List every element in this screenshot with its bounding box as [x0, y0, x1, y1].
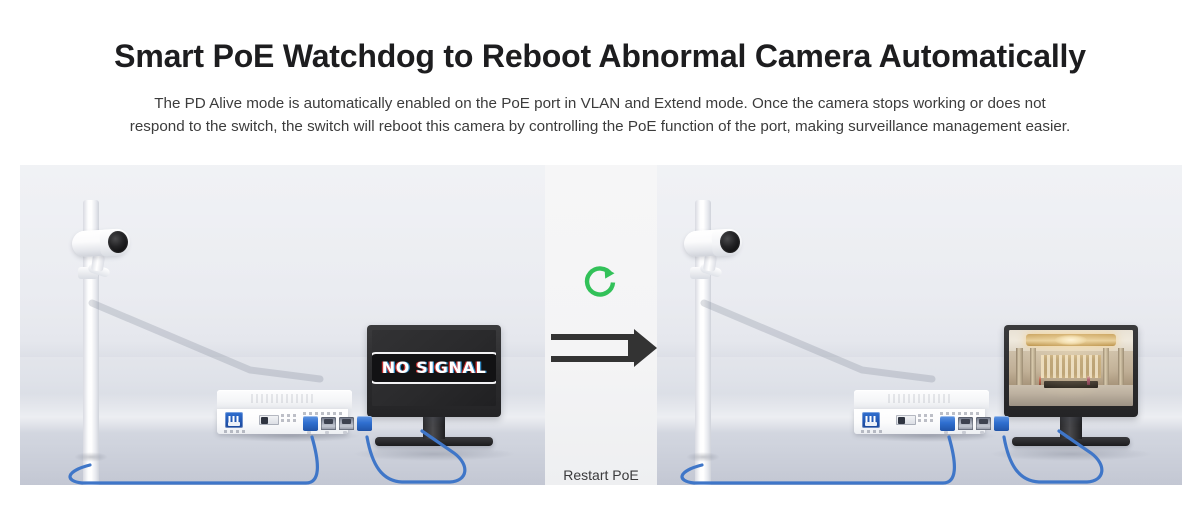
switch-mode-selector: [259, 415, 279, 425]
switch-port-label-row: [303, 412, 343, 415]
switch-led-2: [962, 431, 966, 434]
scene-panel-before: NO SIGNAL: [20, 165, 545, 485]
switch-top-cover: [854, 390, 989, 409]
switch-front-face: [217, 409, 348, 434]
switch-led-3: [343, 431, 347, 434]
switch-top-cover: [217, 390, 352, 409]
switch-mode-label-2: [281, 419, 297, 422]
page-description: The PD Alive mode is automatically enabl…: [10, 92, 1190, 138]
switch-led-3: [980, 431, 984, 434]
monitor-shadow: [354, 447, 514, 461]
page-root: Smart PoE Watchdog to Reboot Abnormal Ca…: [0, 0, 1200, 520]
camera-mount: [91, 254, 105, 272]
poe-switch-after: [854, 390, 989, 434]
switch-port-uplink-plug: [357, 416, 372, 431]
switch-brand-marking: [251, 394, 313, 403]
switch-port-3[interactable]: [339, 417, 354, 430]
switch-port-3[interactable]: [976, 417, 991, 430]
no-signal-text: NO SIGNAL: [382, 358, 487, 377]
transition-column: Restart PoE: [545, 165, 657, 485]
pole-base-shadow: [74, 452, 108, 462]
switch-led-2: [325, 431, 329, 434]
switch-mode-label: [918, 414, 934, 417]
switch-model-text: [224, 430, 246, 433]
page-title: Smart PoE Watchdog to Reboot Abnormal Ca…: [0, 38, 1200, 75]
switch-front-face: [854, 409, 985, 434]
switch-mode-label: [281, 414, 297, 417]
description-line-1: The PD Alive mode is automatically enabl…: [10, 92, 1190, 115]
pole-base-shadow: [686, 452, 720, 462]
monitor-screen: NO SIGNAL: [372, 330, 496, 406]
switch-port-2[interactable]: [958, 417, 973, 430]
monitor-bezel: [1004, 325, 1138, 417]
switch-mode-label-2: [918, 419, 934, 422]
monitor-shadow: [991, 447, 1151, 461]
right-arrow-icon: [548, 328, 660, 373]
restart-poe-label: Restart PoE: [545, 467, 657, 483]
switch-port-label-row: [940, 412, 980, 415]
monitor-bezel: NO SIGNAL: [367, 325, 501, 417]
switch-brand-marking: [888, 394, 950, 403]
no-signal-badge: NO SIGNAL: [372, 352, 496, 384]
scene-panel-after: [657, 165, 1182, 485]
camera-mount: [703, 254, 717, 272]
switch-port-1-plug: [940, 416, 955, 431]
switch-led-1: [307, 431, 311, 434]
monitor-screen: [1009, 330, 1133, 406]
switch-port-2[interactable]: [321, 417, 336, 430]
monitor-no-signal: NO SIGNAL: [367, 325, 501, 453]
refresh-circular-arrow-icon: [581, 261, 621, 301]
monitor-live-feed: [1004, 325, 1138, 453]
poe-switch-before: [217, 390, 352, 434]
switch-logo-badge: [862, 412, 880, 428]
switch-logo-badge: [225, 412, 243, 428]
switch-port-1-plug: [303, 416, 318, 431]
hotel-lobby-feed-image: [1009, 330, 1133, 406]
switch-model-text: [861, 430, 883, 433]
switch-led-1: [944, 431, 948, 434]
description-line-2: respond to the switch, the switch will r…: [10, 115, 1190, 138]
switch-port-uplink-plug: [994, 416, 1009, 431]
switch-mode-selector: [896, 415, 916, 425]
